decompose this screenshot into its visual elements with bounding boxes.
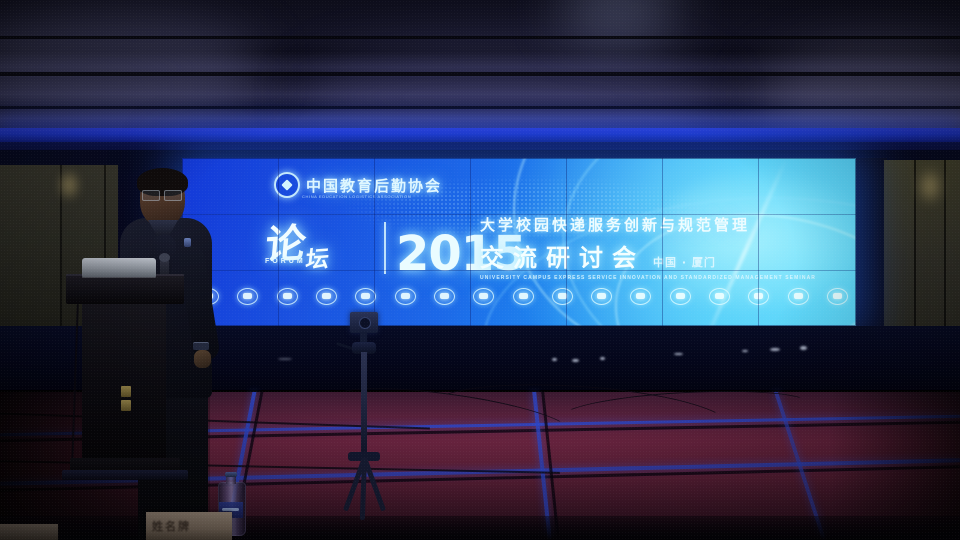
stage-light-spot — [742, 350, 748, 352]
lectern-cable — [71, 304, 79, 464]
stage-light-spot — [552, 358, 557, 361]
stage-light-spot — [572, 359, 579, 362]
lectern — [66, 258, 184, 490]
ceiling-beam — [0, 36, 960, 39]
wristwatch — [193, 342, 209, 350]
name-card-label: 姓名牌 — [152, 518, 191, 534]
stage-light-spot — [674, 353, 683, 355]
ceiling-spotlight — [560, 0, 680, 40]
wall-sconce-glow — [56, 168, 82, 202]
stage-light-spot — [600, 357, 605, 360]
laptop — [82, 258, 156, 277]
stage-light-spot — [770, 348, 780, 351]
lectern-emblem — [120, 386, 131, 414]
tripod-column — [361, 352, 367, 456]
ceiling-beam — [0, 106, 960, 109]
ceiling-glow — [0, 8, 260, 128]
camera-lens-icon — [359, 317, 371, 329]
lectern-body — [82, 302, 166, 462]
camera-tripod — [328, 312, 400, 508]
ceiling-beam — [0, 72, 960, 76]
led-banner-screen: 中国教育后勤协会 CHINA EDUCATION LOGISTICS ASSOC… — [182, 158, 856, 326]
screen-bevel — [182, 158, 856, 326]
bottle-cap — [225, 472, 237, 477]
lectern-top — [66, 274, 184, 304]
name-card: 姓名牌 — [146, 512, 232, 540]
stage-light-spot — [800, 346, 807, 350]
eyeglasses-icon — [142, 190, 184, 199]
presenter-hand — [194, 350, 211, 368]
blue-cove-light — [0, 128, 960, 142]
lectern-platform — [62, 470, 188, 480]
name-card — [0, 524, 58, 540]
conference-hall-photo: 中国教育后勤协会 CHINA EDUCATION LOGISTICS ASSOC… — [0, 0, 960, 540]
wall-sconce-glow — [916, 166, 944, 206]
stage-light-spot — [278, 358, 292, 360]
